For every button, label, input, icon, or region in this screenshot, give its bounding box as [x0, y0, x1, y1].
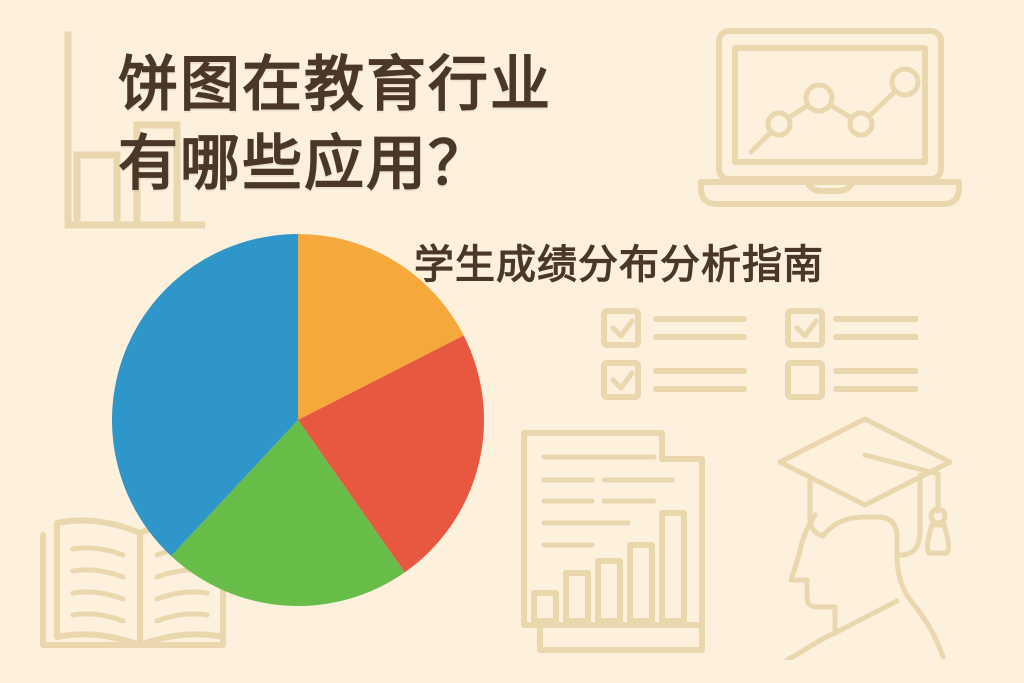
page-subtitle: 学生成绩分布分析指南: [414, 232, 824, 290]
title-block: 饼图在教育行业 有哪些应用？: [118, 45, 738, 203]
checklist-icon: [598, 305, 918, 405]
page-title: 饼图在教育行业 有哪些应用？: [118, 45, 738, 203]
graduate-cap-person-icon: [765, 405, 1010, 660]
report-document-icon: [512, 425, 722, 660]
poster-canvas: 饼图在教育行业 有哪些应用？ 学生成绩分布分析指南: [0, 0, 1024, 683]
